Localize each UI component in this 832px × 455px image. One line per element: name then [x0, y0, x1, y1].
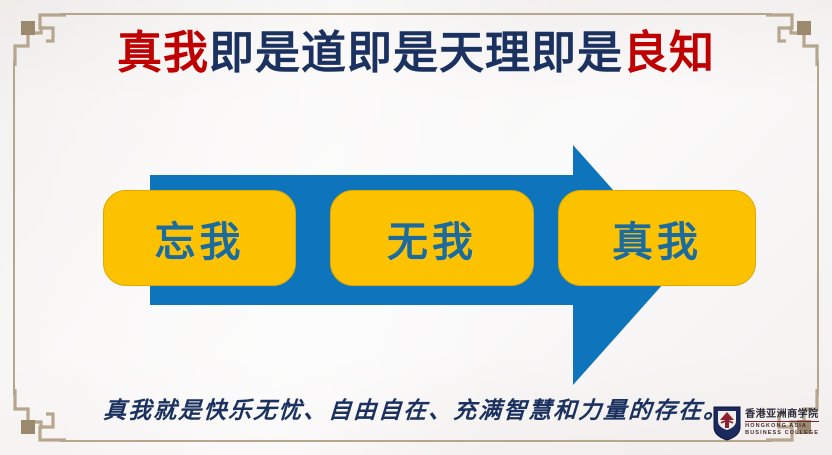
- slide-canvas: 真我即是道即是天理即是良知 忘我 无我 真我 真我就是快乐无忧、自由自在、充满智…: [0, 0, 832, 455]
- stage-box-3-label: 真我: [612, 208, 702, 268]
- stage-box-1[interactable]: 忘我: [103, 190, 296, 286]
- stage-box-3[interactable]: 真我: [558, 190, 756, 286]
- stage-box-2[interactable]: 无我: [330, 190, 534, 286]
- school-logo-text: 香港亚洲商学院 HONGKONG ASIA BUSINESS COLLEGE: [745, 410, 819, 437]
- school-name-en-line1: HONGKONG ASIA: [745, 424, 819, 430]
- title-segment-1: 真我: [117, 28, 209, 78]
- title-segment-2: 即是道即是天理即是: [209, 28, 623, 78]
- title-segment-3: 良知: [623, 28, 715, 78]
- slide-caption: 真我就是快乐无忧、自由自在、充满智慧和力量的存在。: [45, 391, 787, 425]
- stage-box-2-label: 无我: [387, 208, 477, 268]
- frame-line-top: [60, 13, 772, 15]
- stage-box-1-label: 忘我: [155, 208, 245, 268]
- school-name-cn: 香港亚洲商学院: [745, 410, 819, 422]
- shield-crest-icon: [712, 405, 742, 441]
- frame-line-right: [817, 60, 819, 395]
- frame-line-bottom: [60, 440, 772, 442]
- school-logo: 香港亚洲商学院 HONGKONG ASIA BUSINESS COLLEGE: [712, 403, 819, 443]
- slide-title: 真我即是道即是天理即是良知: [0, 27, 832, 80]
- school-name-en-line2: BUSINESS COLLEGE: [745, 431, 819, 437]
- frame-line-left: [13, 60, 15, 395]
